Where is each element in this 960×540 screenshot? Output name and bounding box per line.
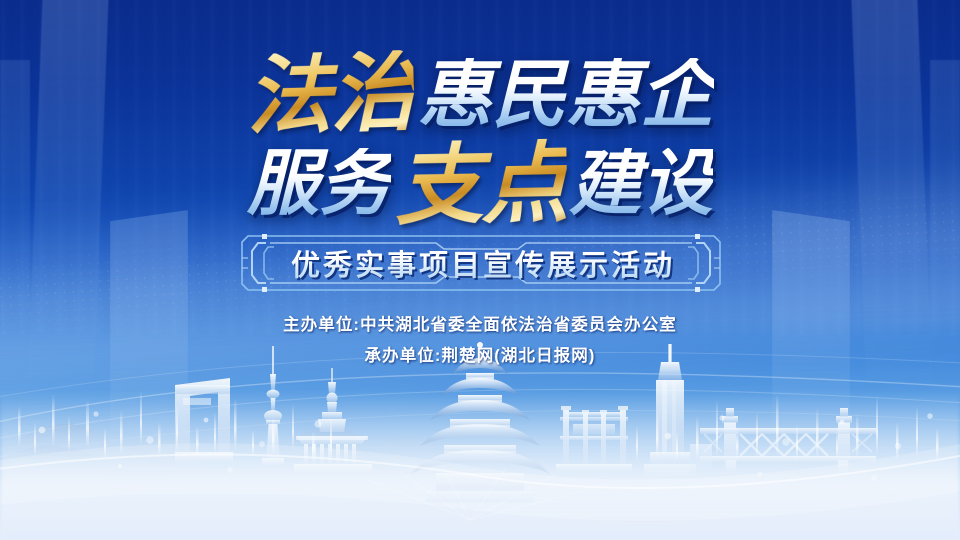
poster-canvas: 法治惠民惠企 服务支点建设	[0, 0, 960, 540]
organizer-coorganizer-line: 承办单位:荆楚网(湖北日报网)	[0, 341, 960, 372]
title-line-2: 服务支点建设	[0, 140, 960, 228]
title-line-1: 法治惠民惠企	[0, 52, 960, 138]
title-jianshe: 建设	[569, 148, 713, 220]
organizer-host-line: 主办单位:中共湖北省委全面依法治省委员会办公室	[0, 310, 960, 341]
title-fazhi: 法治	[245, 50, 415, 140]
banner-subtitle-text: 优秀实事项目宣传展示活动	[240, 234, 722, 292]
subtitle-banner: 优秀实事项目宣传展示活动	[240, 234, 722, 292]
title-zhidian: 支点	[394, 139, 568, 230]
light-particles	[0, 370, 960, 540]
organizer-block: 主办单位:中共湖北省委全面依法治省委员会办公室 承办单位:荆楚网(湖北日报网)	[0, 310, 960, 372]
title-fuwu: 服务	[247, 148, 391, 220]
title-huiminhuiqi: 惠民惠企	[418, 58, 714, 132]
